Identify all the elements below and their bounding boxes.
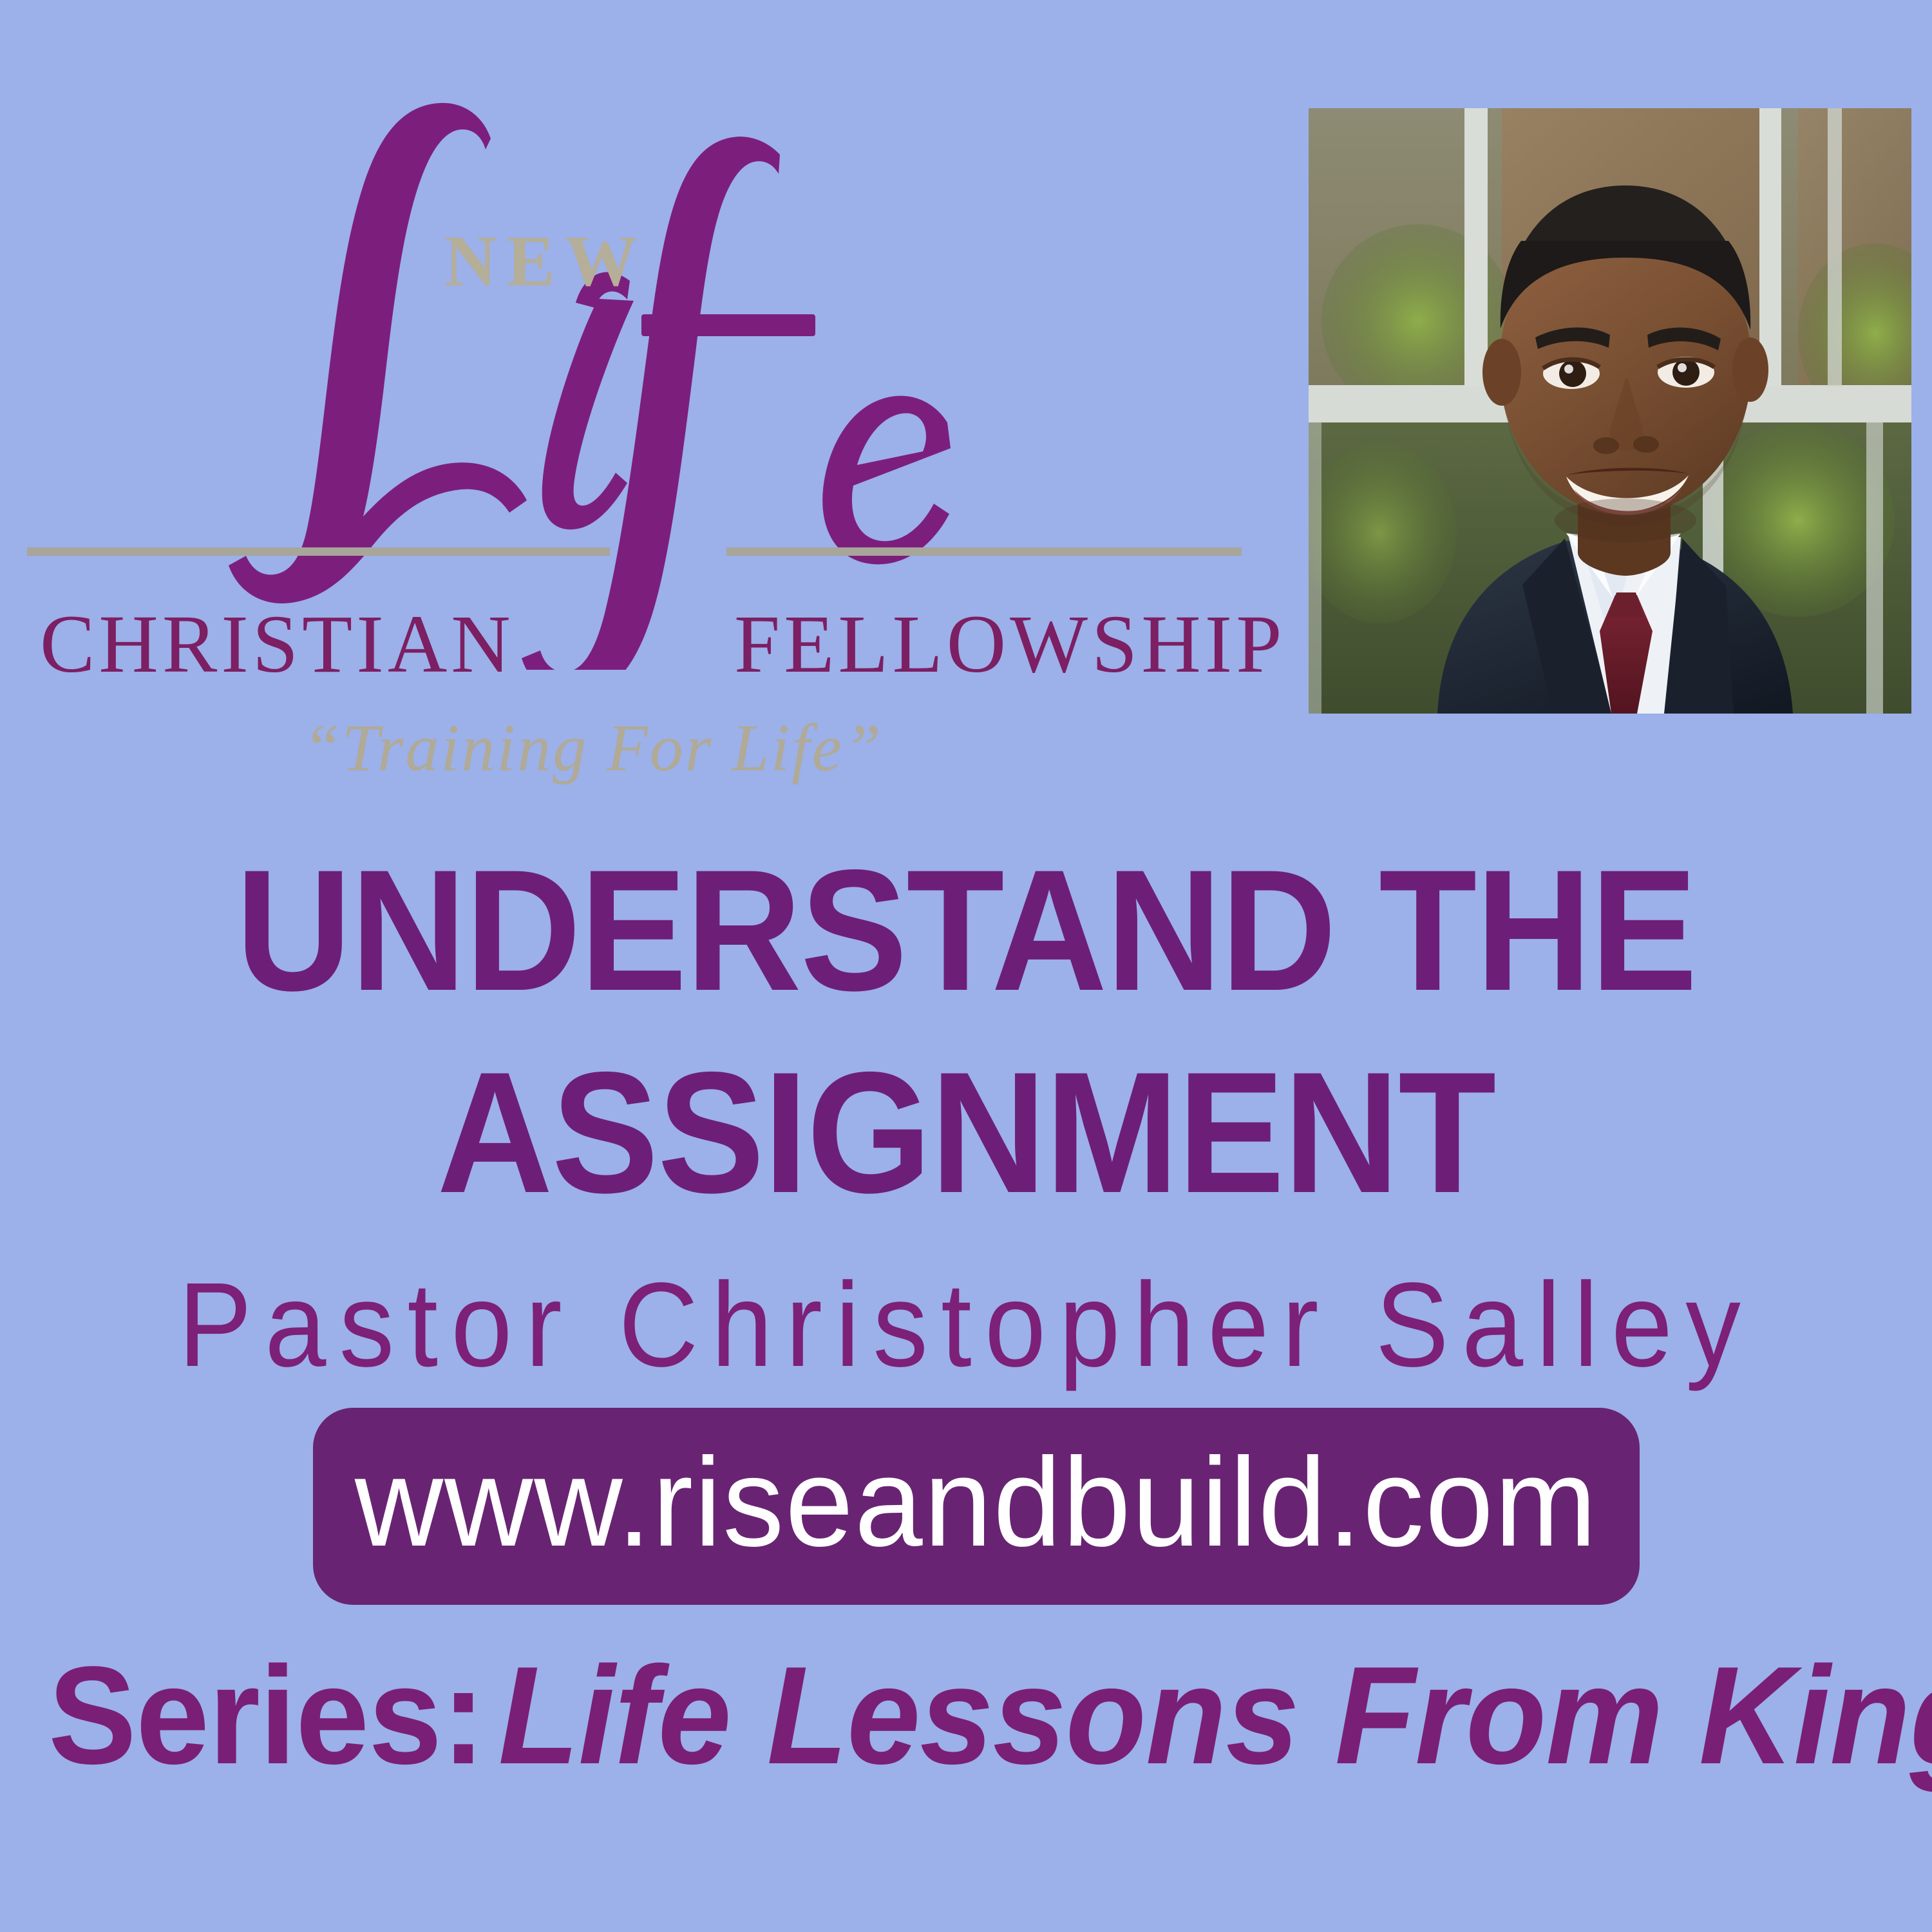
website-button[interactable]: www.riseandbuild.com <box>313 1408 1640 1605</box>
series-line: Series:Life Lessons From Kings <box>48 1645 1884 1785</box>
sermon-graphic: NEW CHRISTIAN FELLOWSHIP “Training For L… <box>0 0 1932 1932</box>
church-logo: NEW CHRISTIAN FELLOWSHIP “Training For L… <box>0 77 1275 728</box>
logo-christian-text: CHRISTIAN <box>40 603 515 685</box>
sermon-title: UNDERSTAND THE ASSIGNMENT <box>68 829 1864 1233</box>
logo-tagline: “Training For Life” <box>303 715 883 782</box>
logo-fellowship-text: FELLOWSHIP <box>734 603 1285 685</box>
speaker-name: Pastor Christopher Salley <box>77 1265 1855 1385</box>
series-title: Life Lessons From Kings <box>498 1637 1932 1793</box>
speaker-headshot <box>1309 108 1911 714</box>
logo-new-text: NEW <box>444 225 648 298</box>
logo-rule-left <box>27 547 610 556</box>
website-url-text: www.riseandbuild.com <box>355 1439 1598 1566</box>
logo-script-wordmark <box>97 77 1204 670</box>
series-label: Series: <box>48 1637 485 1793</box>
logo-rule-right <box>726 547 1242 556</box>
